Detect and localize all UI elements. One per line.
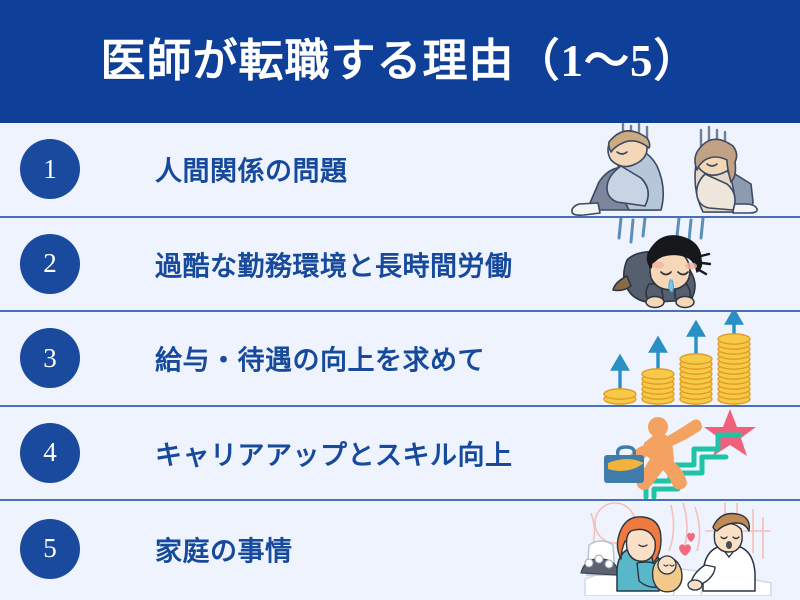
reasons-list: 1 人間関係の問題: [0, 123, 800, 600]
list-item-number-badge: 3: [20, 328, 80, 388]
exhausted-person-on-all-fours-icon: [550, 218, 800, 311]
list-item-label: キャリアアップとスキル向上: [155, 433, 513, 472]
list-item[interactable]: 5 家庭の事情: [0, 501, 800, 596]
list-item-label: 家庭の事情: [155, 529, 293, 568]
two-depressed-people-sitting-icon: [550, 123, 800, 216]
list-item[interactable]: 1 人間関係の問題: [0, 123, 800, 218]
list-item[interactable]: 3 給与・待遇の向上を求めて: [0, 312, 800, 407]
slide-header: 医師が転職する理由（1〜5）: [0, 0, 800, 123]
person-climbing-stairs-to-star-icon: [550, 407, 800, 500]
list-item-number-badge: 2: [20, 234, 80, 294]
list-item-number-badge: 4: [20, 423, 80, 483]
rising-coin-stacks-with-arrows-icon: [550, 312, 800, 405]
list-item-number-badge: 5: [20, 519, 80, 579]
list-item-label: 人間関係の問題: [155, 150, 348, 189]
page-title: 医師が転職する理由（1〜5）: [100, 39, 699, 84]
list-item-label: 給与・待遇の向上を求めて: [155, 339, 485, 378]
list-item[interactable]: 4 キャリアアップとスキル向上: [0, 407, 800, 502]
list-item-number-badge: 1: [20, 139, 80, 199]
slide-root: 医師が転職する理由（1〜5） 1 人間関係の問題: [0, 0, 800, 600]
list-item[interactable]: 2 過酷な勤務環境と長時間労働: [0, 218, 800, 313]
list-item-label: 過酷な勤務環境と長時間労働: [155, 244, 513, 283]
family-with-newborn-baby-icon: [550, 501, 800, 596]
